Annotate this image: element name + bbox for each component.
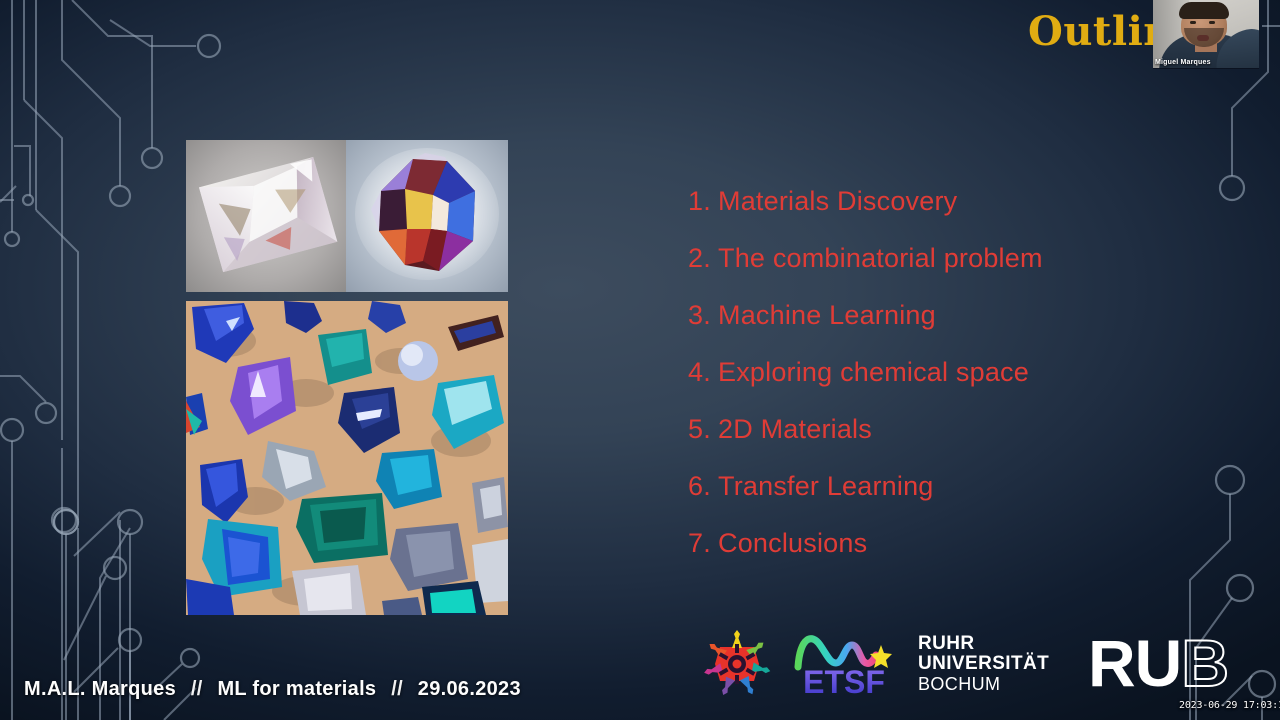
- footer-separator: //: [182, 678, 212, 700]
- list-item-number: 5.: [688, 414, 718, 445]
- slide-footer: M.A.L. Marques // ML for materials // 29…: [24, 678, 521, 701]
- webcam-eye-right: [1209, 21, 1215, 24]
- rub-mark-b: B: [1181, 626, 1228, 700]
- rub-line-3: BOCHUM: [918, 675, 1049, 694]
- crystals-collection-image: [186, 301, 508, 615]
- footer-talk-title: ML for materials: [217, 678, 376, 700]
- webcam-video-tile[interactable]: Miguel Marques: [1153, 0, 1259, 69]
- presentation-slide: Outline: [0, 0, 1280, 720]
- list-item-label: Materials Discovery: [718, 186, 957, 217]
- list-item-label: Exploring chemical space: [718, 357, 1029, 388]
- webcam-mouth: [1197, 35, 1209, 41]
- rub-line-1: RUHR: [918, 634, 1049, 655]
- outline-list: 1. Materials Discovery 2. The combinator…: [688, 186, 1208, 585]
- webcam-participant-name: Miguel Marques: [1155, 59, 1211, 66]
- etsf-logo: ETSF: [792, 629, 898, 699]
- footer-author: M.A.L. Marques: [24, 678, 176, 700]
- list-item: 3. Machine Learning: [688, 300, 1208, 357]
- snowflake-logo-icon: [700, 628, 774, 700]
- logo-bar: ETSF RUHR UNIVERSITÄT BOCHUM: [700, 628, 1049, 700]
- list-item-label: Transfer Learning: [718, 471, 934, 502]
- rub-mark-ru: RU: [1088, 626, 1181, 700]
- list-item: 7. Conclusions: [688, 528, 1208, 585]
- list-item-label: 2D Materials: [718, 414, 872, 445]
- gem-color-image: [346, 140, 508, 292]
- list-item-number: 1.: [688, 186, 718, 217]
- list-item-label: The combinatorial problem: [718, 243, 1043, 274]
- list-item: 6. Transfer Learning: [688, 471, 1208, 528]
- webcam-eye-left: [1190, 21, 1196, 24]
- rub-logo-mark: RUB: [1088, 630, 1228, 696]
- list-item: 4. Exploring chemical space: [688, 357, 1208, 414]
- webcam-hair: [1179, 2, 1229, 19]
- footer-date: 29.06.2023: [418, 678, 521, 700]
- list-item-number: 3.: [688, 300, 718, 331]
- list-item: 5. 2D Materials: [688, 414, 1208, 471]
- gem-clear-image: [186, 140, 346, 292]
- image-panel: [186, 140, 508, 615]
- list-item-number: 7.: [688, 528, 718, 559]
- list-item-number: 6.: [688, 471, 718, 502]
- recording-timestamp: 2023-06-29 17:03:14: [1179, 700, 1280, 711]
- list-item-number: 2.: [688, 243, 718, 274]
- list-item-label: Machine Learning: [718, 300, 936, 331]
- footer-separator: //: [382, 678, 412, 700]
- rub-line-2: UNIVERSITÄT: [918, 654, 1049, 675]
- list-item: 2. The combinatorial problem: [688, 243, 1208, 300]
- ruhr-universitaet-bochum-wordmark: RUHR UNIVERSITÄT BOCHUM: [918, 634, 1049, 694]
- list-item-number: 4.: [688, 357, 718, 388]
- list-item-label: Conclusions: [718, 528, 867, 559]
- etsf-wordmark: ETSF: [803, 664, 885, 699]
- list-item: 1. Materials Discovery: [688, 186, 1208, 243]
